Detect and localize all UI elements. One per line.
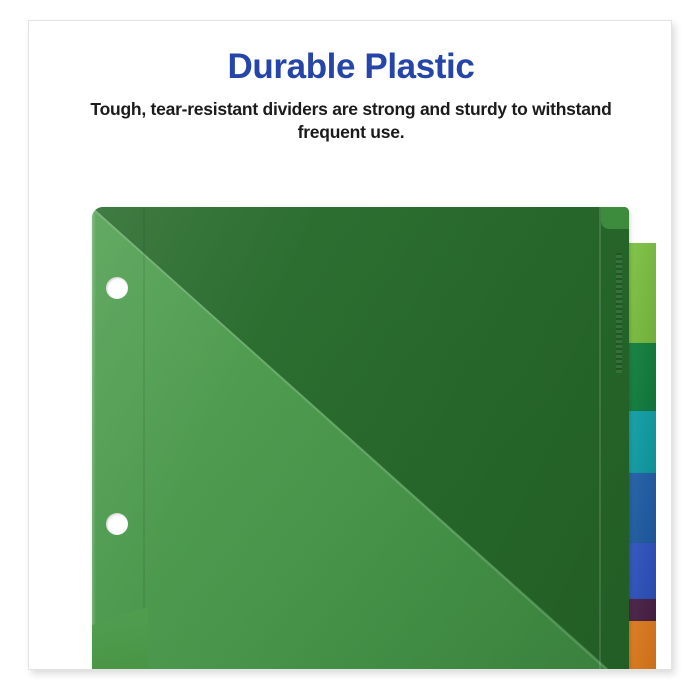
hole-punch-bottom (106, 513, 128, 535)
product-image-stage: Durable Plastic Tough, tear-resistant di… (0, 0, 700, 700)
binding-crease (143, 207, 145, 670)
binding-edge-highlight (92, 207, 96, 670)
divider-sheet (92, 207, 629, 670)
heading-block: Durable Plastic Tough, tear-resistant di… (29, 49, 672, 145)
pocket-opening-edge (599, 207, 601, 670)
page-subtitle: Tough, tear-resistant dividers are stron… (71, 98, 631, 145)
perforation-texture-strip (616, 253, 622, 373)
product-card: Durable Plastic Tough, tear-resistant di… (28, 20, 672, 670)
hole-punch-top (106, 277, 128, 299)
pocket-corner-notch (601, 207, 629, 229)
page-title: Durable Plastic (29, 49, 672, 86)
